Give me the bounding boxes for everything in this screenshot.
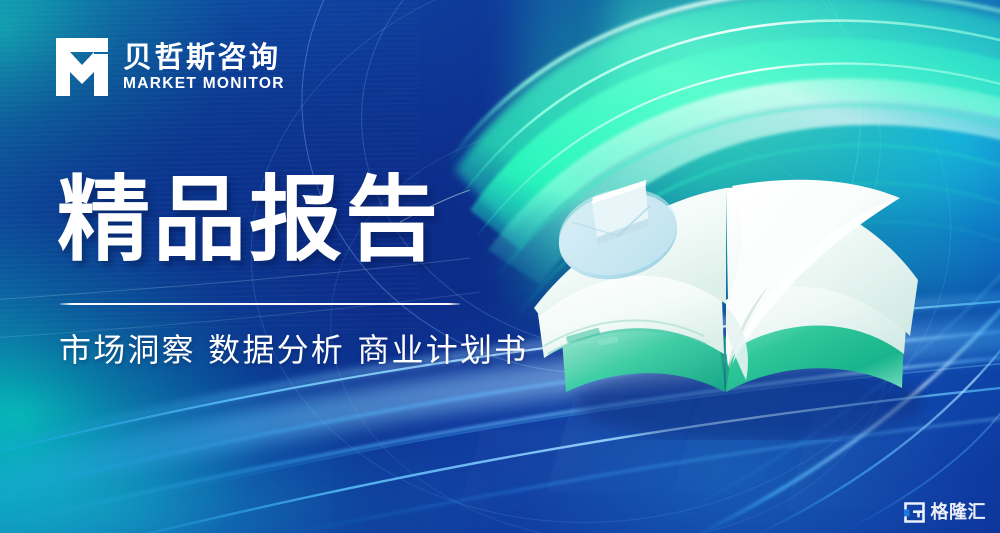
book-illustration (500, 140, 960, 440)
logo-company-name-en: MARKET MONITOR (123, 76, 285, 92)
title-divider (60, 303, 460, 305)
blue-streak-glow (0, 400, 500, 533)
report-cover-banner: 贝哲斯咨询 MARKET MONITOR 精品报告 市场洞察 数据分析 商业计划… (0, 0, 1000, 533)
brand-logo: 贝哲斯咨询 MARKET MONITOR (54, 36, 285, 98)
logo-company-name-cn: 贝哲斯咨询 (123, 43, 285, 72)
market-monitor-m-logo-icon (54, 36, 110, 98)
gelonghui-g-logo-icon (904, 502, 925, 523)
watermark: 格隆汇 (904, 502, 987, 523)
page-title: 精品报告 (57, 172, 441, 270)
page-subtitle: 市场洞察 数据分析 商业计划书 (59, 330, 528, 370)
watermark-text: 格隆汇 (931, 504, 987, 522)
